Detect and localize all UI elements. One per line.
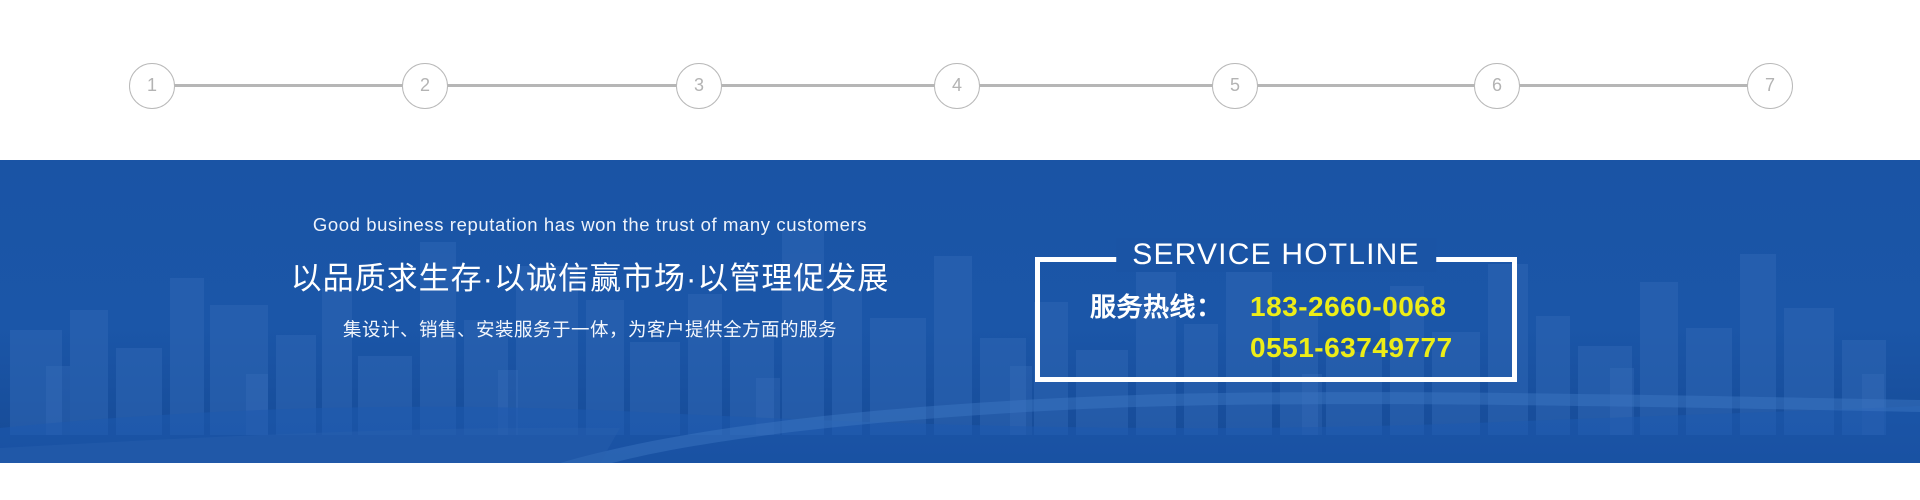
slogan-english: Good business reputation has won the tru… [280, 214, 900, 236]
promo-banner: Good business reputation has won the tru… [0, 160, 1920, 463]
slogan-sub: 集设计、销售、安装服务于一体，为客户提供全方面的服务 [280, 316, 900, 342]
stepper-step-6[interactable]: 6 [1474, 63, 1520, 109]
hotline-row-secondary: 0551-63749777 [1035, 332, 1517, 364]
stepper-step-4[interactable]: 4 [934, 63, 980, 109]
hotline-label: 服务热线： [1090, 287, 1250, 324]
hotline-number-mobile[interactable]: 183-2660-0068 [1250, 291, 1446, 323]
hotline-row-primary: 服务热线： 183-2660-0068 [1035, 287, 1517, 324]
hotline-rows: 服务热线： 183-2660-0068 0551-63749777 [1035, 287, 1517, 364]
stepper-step-1[interactable]: 1 [129, 63, 175, 109]
slogan-block: Good business reputation has won the tru… [280, 214, 900, 342]
hotline-title: SERVICE HOTLINE [1116, 238, 1436, 272]
stepper-step-5[interactable]: 5 [1212, 63, 1258, 109]
stepper-step-7[interactable]: 7 [1747, 63, 1793, 109]
stepper-step-2[interactable]: 2 [402, 63, 448, 109]
service-hotline-box: SERVICE HOTLINE 服务热线： 183-2660-0068 0551… [1035, 257, 1517, 382]
bottom-white-strip [0, 463, 1920, 500]
slogan-main: 以品质求生存·以诚信赢市场·以管理促发展 [280, 253, 900, 298]
stepper-navigation: 1 2 3 4 5 6 7 [0, 0, 1920, 160]
page-root: 1 2 3 4 5 6 7 [0, 0, 1920, 500]
stepper-step-3[interactable]: 3 [676, 63, 722, 109]
hotline-number-landline[interactable]: 0551-63749777 [1250, 332, 1453, 364]
